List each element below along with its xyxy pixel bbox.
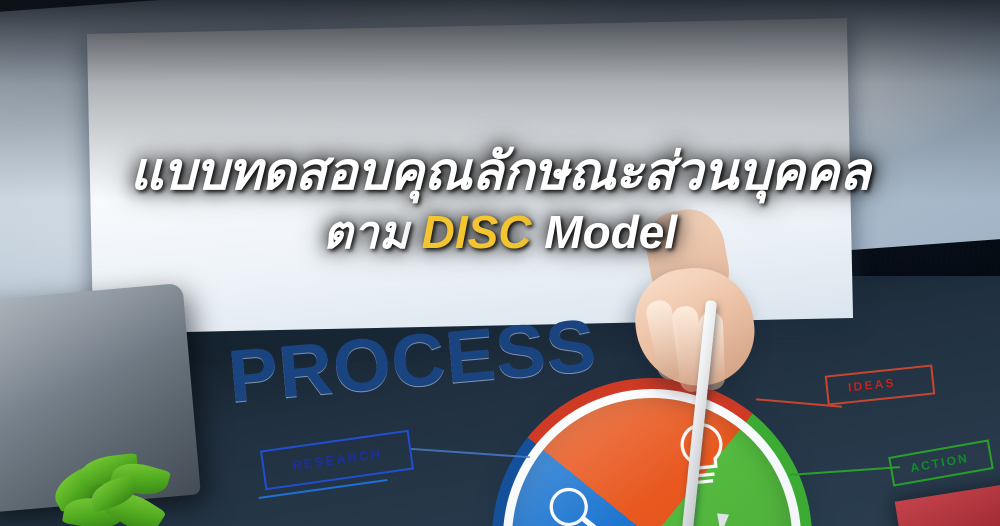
green-potted-plant (46, 450, 186, 526)
disc-model-banner: PROCESS (0, 0, 1000, 526)
magnifier-icon (537, 474, 614, 526)
pen-tip (715, 513, 729, 526)
